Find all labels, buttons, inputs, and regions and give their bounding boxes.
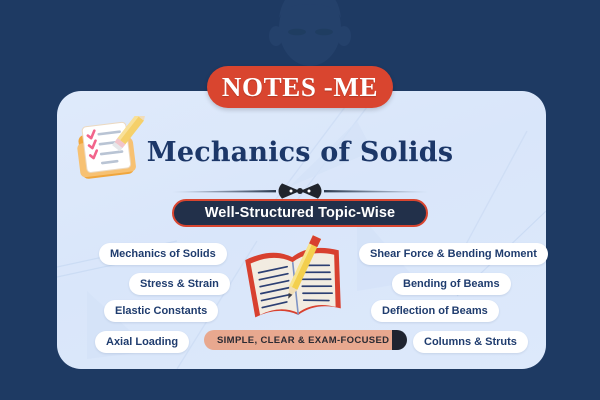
tagline-banner-fill: SIMPLE, CLEAR & EXAM-FOCUSED <box>204 330 401 350</box>
topic-chip-label: Bending of Beams <box>403 278 500 290</box>
topic-chip-label: Elastic Constants <box>115 305 207 317</box>
topic-chip-left-1[interactable]: Mechanics of Solids <box>99 243 227 265</box>
topic-chip-right-1[interactable]: Shear Force & Bending Moment <box>359 243 548 265</box>
subtitle-badge: Well-Structured Topic-Wise <box>172 199 428 227</box>
notepad-checklist-icon <box>72 116 148 188</box>
topic-chip-label: Deflection of Beams <box>382 305 488 317</box>
topic-chip-label: Stress & Strain <box>140 278 219 290</box>
topic-chip-left-2[interactable]: Stress & Strain <box>129 273 230 295</box>
topic-chip-label: Axial Loading <box>106 336 178 348</box>
brand-badge: NOTES -ME <box>207 66 393 108</box>
topic-chip-right-4[interactable]: Columns & Struts <box>413 331 528 353</box>
tagline-banner-label: SIMPLE, CLEAR & EXAM-FOCUSED <box>217 335 389 346</box>
topic-chip-right-3[interactable]: Deflection of Beams <box>371 300 499 322</box>
topic-chip-label: Columns & Struts <box>424 336 517 348</box>
topic-chip-left-4[interactable]: Axial Loading <box>95 331 189 353</box>
tagline-banner: SIMPLE, CLEAR & EXAM-FOCUSED <box>204 330 407 350</box>
topic-chip-label: Shear Force & Bending Moment <box>370 248 537 260</box>
tagline-banner-cap <box>392 330 407 350</box>
poster-canvas: NOTES -ME Mechanics of Solids <box>0 0 600 400</box>
topic-chip-label: Mechanics of Solids <box>110 248 216 260</box>
topic-chip-left-3[interactable]: Elastic Constants <box>104 300 218 322</box>
topic-chip-right-2[interactable]: Bending of Beams <box>392 273 511 295</box>
subtitle-badge-label: Well-Structured Topic-Wise <box>205 205 395 221</box>
brand-badge-label: NOTES -ME <box>222 72 378 103</box>
open-book-pencil-icon <box>240 233 350 335</box>
